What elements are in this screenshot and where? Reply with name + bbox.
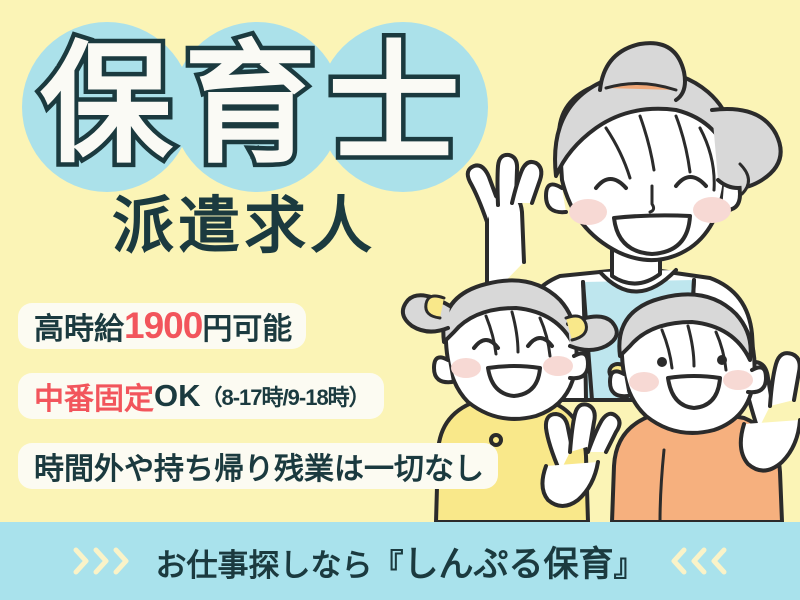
footer-tagline: お仕事探しなら『しんぷる保育』 [155, 536, 644, 587]
feature-fixed-shift: 中番固定OK（8-17時/9-18時） [18, 373, 384, 419]
no-overtime-label: 時間外や持ち帰り残業は一切なし [34, 444, 484, 488]
chevron-right-icon [113, 547, 129, 575]
job-ad-banner: 保育士 派遣求人 高時給1900円可能 中番固定OK（8-17時/9-18時） … [0, 0, 800, 600]
footer-trail: 』 [614, 548, 645, 583]
feature-prefix: 高時給 [34, 304, 124, 348]
feature-suffix: 円可能 [202, 304, 292, 348]
chevron-right-icon [73, 547, 89, 575]
page-title: 保育士 [40, 30, 472, 180]
page-subtitle: 派遣求人 [112, 192, 376, 262]
feature-no-overtime: 時間外や持ち帰り残業は一切なし [18, 443, 498, 489]
shift-hours: （8-17時/9-18時） [201, 380, 370, 412]
brand-name: しんぷる保育 [403, 545, 613, 584]
wage-amount: 1900 [124, 305, 202, 347]
chevron-left-icon [671, 547, 687, 575]
chevron-left-icon [691, 547, 707, 575]
chevron-right-icon [93, 547, 109, 575]
chevron-right-group [73, 547, 129, 575]
shift-label: 中番固定 [34, 374, 154, 418]
shift-ok-label: OK [154, 378, 201, 414]
chevron-left-group [671, 547, 727, 575]
footer-banner: お仕事探しなら『しんぷる保育』 [0, 522, 800, 600]
footer-lead: お仕事探しなら『 [155, 548, 403, 583]
feature-hourly-wage: 高時給1900円可能 [18, 303, 306, 349]
chevron-left-icon [711, 547, 727, 575]
